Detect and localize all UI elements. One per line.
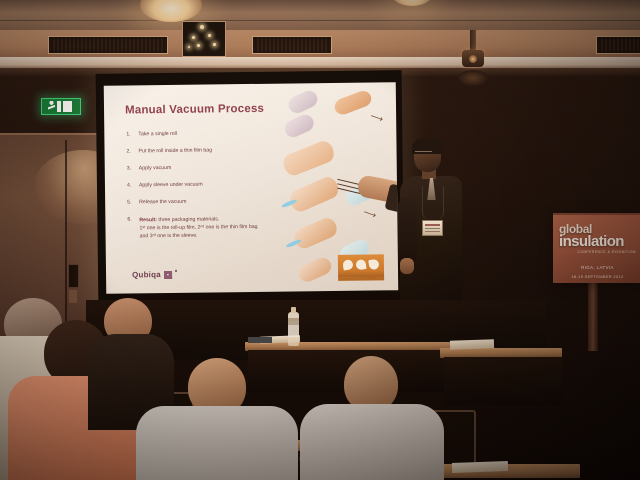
air-vent-grille-far-right bbox=[596, 36, 640, 54]
papers-front-right bbox=[452, 461, 508, 473]
qubiqa-logo-text: Qubiqa bbox=[132, 270, 161, 279]
ceiling-seam bbox=[0, 20, 640, 21]
roll-vacuum bbox=[287, 174, 342, 214]
door-handle-icon[interactable] bbox=[68, 264, 79, 288]
banner-location: RIGA, LATVIA bbox=[559, 265, 636, 270]
spotlight-lens-icon bbox=[469, 55, 477, 63]
bullet-number: 4. bbox=[127, 182, 134, 189]
badge-detail-line bbox=[425, 228, 440, 229]
running-man-icon bbox=[48, 101, 55, 112]
presenter bbox=[398, 140, 472, 300]
exit-door-icon bbox=[63, 101, 75, 112]
notepad-back bbox=[248, 337, 272, 343]
list-item-result: 6. Result: three packaging materials.1ˢᵗ… bbox=[127, 215, 287, 241]
roll-final bbox=[296, 255, 334, 285]
bullet-text: Take a single roll bbox=[138, 130, 286, 138]
bullet-number: 1. bbox=[126, 131, 133, 138]
presenter-name-badge bbox=[422, 220, 443, 236]
bullet-text: Apply vacuum bbox=[139, 164, 287, 172]
door-lock-plate-icon bbox=[69, 290, 77, 303]
slide-title: Manual Vacuum Process bbox=[125, 103, 264, 117]
ceiling bbox=[0, 0, 640, 34]
qubiqa-squares-icon bbox=[164, 271, 172, 279]
banner-title-insulation: insulation bbox=[559, 234, 636, 249]
roll-wrapped-1 bbox=[332, 89, 373, 117]
conference-room-photo: Manual Vacuum Process 1. Take a single r… bbox=[0, 0, 640, 480]
bullet-text: Result: three packaging materials.1ˢᵗ on… bbox=[139, 215, 287, 241]
audience-torso-4 bbox=[136, 406, 298, 480]
presenter-arm bbox=[398, 198, 417, 266]
bullet-text: Release the vacuum bbox=[139, 198, 287, 206]
bullet-number: 5. bbox=[127, 199, 134, 206]
list-item: 5. Release the vacuum bbox=[127, 198, 287, 206]
banner-content: global insulation CONFERENCE & EXHIBITIO… bbox=[559, 223, 636, 279]
result-text: three packaging materials. bbox=[157, 216, 219, 223]
chandelier-light-fixture-icon bbox=[182, 21, 226, 57]
bullet-text: Apply sleeve under vacuum bbox=[139, 181, 287, 189]
table-right-skirt bbox=[444, 357, 562, 405]
banner-stand-pole bbox=[588, 281, 598, 351]
projection-screen-frame: Manual Vacuum Process 1. Take a single r… bbox=[96, 70, 405, 306]
ceiling-speaker-icon bbox=[458, 70, 488, 86]
qubiqa-logo: Qubiqa bbox=[132, 270, 177, 280]
audience-torso-5 bbox=[300, 404, 444, 480]
odf-mark-3-icon bbox=[368, 259, 379, 270]
list-item: 2. Put the roll inside a thin film bag bbox=[127, 147, 287, 155]
arrow-icon-2: ⟶ bbox=[362, 207, 378, 222]
presenter-lower-hand bbox=[400, 258, 414, 274]
badge-detail-line-2 bbox=[425, 231, 440, 232]
slide-bullet-list: 1. Take a single roll 2. Put the roll in… bbox=[126, 130, 287, 241]
arrow-icon-1: ⟶ bbox=[369, 111, 385, 126]
badge-name-line bbox=[425, 224, 440, 226]
air-vent-grille-right bbox=[252, 36, 332, 54]
bullet-number: 6. bbox=[127, 216, 134, 240]
door-seam bbox=[65, 140, 67, 340]
conference-banner: global insulation CONFERENCE & EXHIBITIO… bbox=[553, 213, 640, 283]
list-item: 1. Take a single roll bbox=[126, 130, 286, 138]
list-item: 3. Apply vacuum bbox=[127, 164, 287, 172]
projection-screen: Manual Vacuum Process 1. Take a single r… bbox=[104, 82, 399, 294]
water-bottle-back bbox=[288, 312, 299, 346]
papers-right bbox=[450, 339, 494, 350]
presenter-glasses-icon bbox=[415, 151, 432, 156]
roll-bagged bbox=[280, 138, 336, 178]
list-item: 4. Apply sleeve under vacuum bbox=[127, 181, 287, 189]
banner-subtitle: CONFERENCE & EXHIBITION bbox=[559, 250, 636, 254]
odf-mark-1-icon bbox=[342, 259, 353, 270]
emergency-exit-sign bbox=[41, 98, 81, 115]
qubiqa-dot-icon bbox=[175, 270, 177, 272]
presenter-lanyard bbox=[422, 186, 444, 220]
banner-dates: 16-19 SEPTEMBER 2012 bbox=[559, 274, 636, 279]
result-line3: and 3ʳᵈ one is the sleeve. bbox=[140, 233, 198, 240]
air-vent-grille-left bbox=[48, 36, 168, 54]
roll-plain-1 bbox=[286, 88, 320, 116]
result-line2: 1ˢᵗ one is the roll-up film, 2ⁿᵈ one is … bbox=[139, 224, 257, 231]
bullet-text: Put the roll inside a thin film bag bbox=[139, 147, 287, 155]
result-label: Result: bbox=[139, 217, 157, 223]
bullet-number: 2. bbox=[127, 148, 134, 155]
roll-plain-2 bbox=[282, 112, 316, 140]
bottle-label bbox=[288, 325, 299, 337]
roll-sleeved bbox=[291, 215, 339, 251]
odf-sponsor-logo bbox=[338, 254, 384, 281]
odf-mark-2-icon bbox=[355, 259, 366, 270]
exit-arrow-icon bbox=[57, 101, 61, 112]
bullet-number: 3. bbox=[127, 165, 134, 172]
